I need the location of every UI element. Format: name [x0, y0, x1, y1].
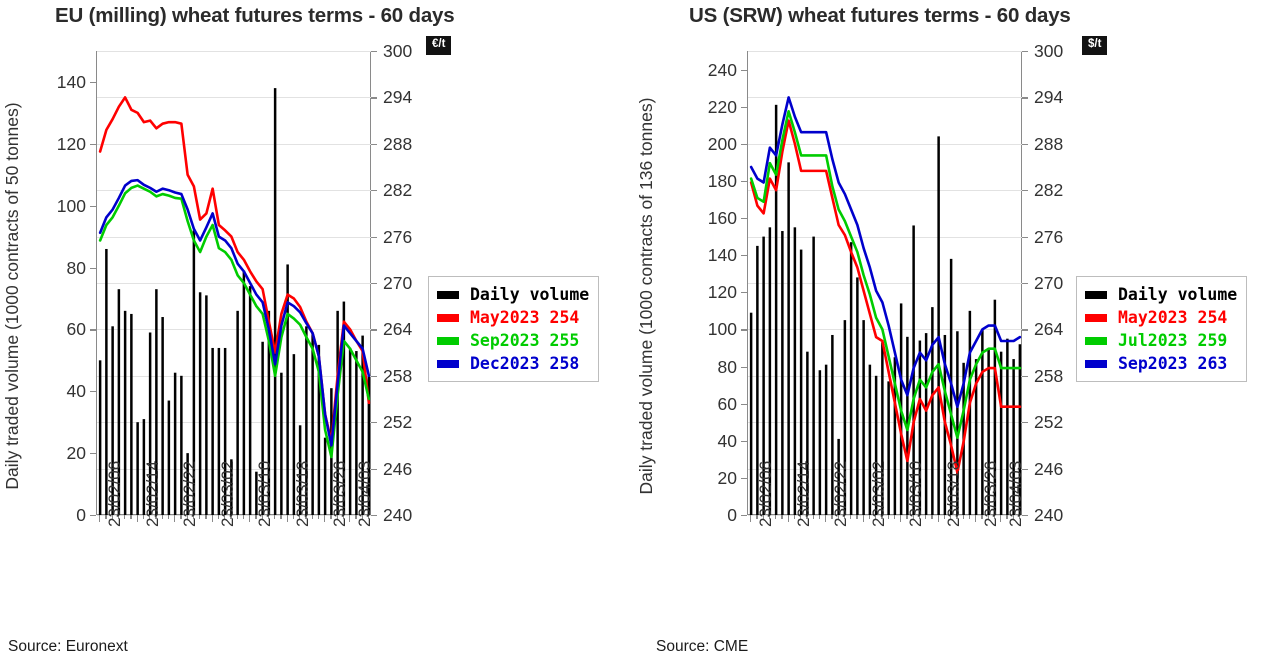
y-tick-label-right: 264: [1034, 321, 1063, 339]
y-tick-mark-right: [1022, 376, 1028, 377]
y-tick-mark-right: [371, 51, 377, 52]
legend-swatch-icon: [437, 360, 459, 368]
y-tick-label-left: 100: [28, 198, 86, 216]
x-tick-mark-minor: [894, 515, 895, 519]
legend-swatch-icon: [1085, 291, 1107, 299]
x-tick-mark-minor: [205, 515, 206, 519]
legend-swatch-icon: [437, 337, 459, 345]
x-tick-mark-minor: [274, 515, 275, 519]
source-eu: Source: Euronext: [8, 638, 128, 656]
y-tick-label-left: 100: [679, 321, 737, 339]
legend-swatch-icon: [1085, 360, 1107, 368]
x-tick-label: 23/03/10: [907, 461, 924, 527]
volume-bar: [136, 422, 139, 515]
x-tick-mark-minor: [280, 515, 281, 519]
y-tick-label-right: 252: [383, 414, 412, 432]
y-tick-mark-right: [371, 376, 377, 377]
volume-bar: [850, 242, 853, 515]
volume-bar: [781, 231, 784, 515]
y-tick-mark-left: [741, 218, 747, 219]
volume-bar: [819, 370, 822, 515]
x-tick-mark: [825, 515, 826, 522]
y-tick-label-right: 240: [1034, 507, 1063, 525]
x-tick-mark-minor: [925, 515, 926, 519]
panel-us: US (SRW) wheat futures terms - 60 days D…: [634, 0, 1267, 670]
y-tick-mark-left: [741, 404, 747, 405]
y-axis-label-eu: Daily traded volume (1000 contracts of 5…: [2, 36, 28, 556]
legend-value: 254: [1198, 308, 1228, 327]
legend-label: Dec2023: [470, 354, 540, 373]
y-tick-mark-left: [741, 367, 747, 368]
volume-bar: [249, 286, 252, 515]
y-tick-label-right: 246: [1034, 461, 1063, 479]
x-tick-mark: [349, 515, 350, 522]
legend-value: 255: [550, 331, 580, 350]
x-tick-label: 23/02/22: [181, 461, 198, 527]
legend-item[interactable]: May2023254: [1085, 306, 1237, 329]
legend-label: May2023: [470, 308, 540, 327]
y-tick-label-right: 294: [383, 89, 412, 107]
y-tick-mark-left: [741, 107, 747, 108]
y-tick-label-right: 294: [1034, 89, 1063, 107]
y-tick-mark-left: [90, 206, 96, 207]
legend-item[interactable]: Sep2023255: [437, 329, 589, 352]
price-line-may2023: [751, 121, 1020, 473]
x-tick-label: 23/03/18: [294, 461, 311, 527]
y-tick-mark-right: [371, 283, 377, 284]
y-tick-label-right: 282: [383, 182, 412, 200]
y-tick-mark-right: [1022, 190, 1028, 191]
x-tick-mark: [975, 515, 976, 522]
y-tick-mark-left: [90, 329, 96, 330]
chart-canvas: [748, 51, 1023, 515]
legend-item[interactable]: Daily volume: [437, 283, 589, 306]
y-tick-label-left: 60: [679, 396, 737, 414]
chart-title-us: US (SRW) wheat futures terms - 60 days: [689, 4, 1071, 28]
x-tick-mark-minor: [781, 515, 782, 519]
x-tick-label: 23/02/22: [832, 461, 849, 527]
y-tick-mark-right: [1022, 283, 1028, 284]
legend-item[interactable]: Daily volume: [1085, 283, 1237, 306]
y-tick-label-left: 140: [28, 74, 86, 92]
y-tick-label-left: 180: [679, 173, 737, 191]
y-tick-label-right: 300: [383, 43, 412, 61]
y-tick-label-right: 288: [383, 136, 412, 154]
legend-item[interactable]: May2023254: [437, 306, 589, 329]
y-tick-label-right: 270: [383, 275, 412, 293]
volume-bar: [274, 88, 277, 515]
y-tick-mark-right: [1022, 329, 1028, 330]
volume-bar: [168, 401, 171, 515]
y-tick-mark-right: [1022, 237, 1028, 238]
x-tick-mark: [212, 515, 213, 522]
x-tick-mark-minor: [318, 515, 319, 519]
legend-value: 254: [550, 308, 580, 327]
y-tick-label-left: 200: [679, 136, 737, 154]
x-tick-mark: [137, 515, 138, 522]
price-line-jul2023: [751, 111, 1020, 437]
x-tick-label: 23/03/02: [219, 461, 236, 527]
y-tick-mark-right: [1022, 422, 1028, 423]
volume-bar: [130, 314, 133, 515]
legend-swatch-icon: [1085, 314, 1107, 322]
volume-bar: [205, 295, 208, 515]
y-tick-label-left: 0: [679, 507, 737, 525]
x-tick-mark: [788, 515, 789, 522]
x-tick-label: 23/02/06: [106, 461, 123, 527]
x-tick-label: 23/02/14: [795, 461, 812, 527]
volume-bar: [856, 277, 859, 515]
y-tick-mark-right: [371, 237, 377, 238]
unit-badge-us: $/t: [1082, 36, 1107, 55]
x-tick-mark: [287, 515, 288, 522]
y-tick-label-right: 276: [383, 229, 412, 247]
legend-us: Daily volumeMay2023254Jul2023259Sep20232…: [1076, 276, 1247, 382]
legend-eu: Daily volumeMay2023254Sep2023255Dec20232…: [428, 276, 599, 382]
dual-chart-page: EU (milling) wheat futures terms - 60 da…: [0, 0, 1267, 670]
y-tick-label-right: 270: [1034, 275, 1063, 293]
volume-bar: [862, 320, 865, 515]
volume-bar: [750, 313, 753, 515]
x-tick-mark-minor: [124, 515, 125, 519]
x-tick-label: 23/03/10: [256, 461, 273, 527]
x-tick-mark-minor: [168, 515, 169, 519]
y-tick-label-left: 220: [679, 99, 737, 117]
legend-label: Sep2023: [1118, 354, 1188, 373]
y-tick-mark-left: [741, 181, 747, 182]
x-tick-mark: [863, 515, 864, 522]
y-tick-label-right: 258: [383, 368, 412, 386]
plot-area-us: [747, 51, 1022, 515]
x-tick-mark-minor: [931, 515, 932, 519]
volume-bar: [349, 348, 352, 515]
volume-bar: [243, 271, 246, 515]
y-tick-mark-left: [741, 441, 747, 442]
panel-eu: EU (milling) wheat futures terms - 60 da…: [0, 0, 633, 670]
y-tick-mark-left: [741, 329, 747, 330]
x-tick-mark-minor: [199, 515, 200, 519]
y-tick-label-right: 276: [1034, 229, 1063, 247]
x-tick-mark: [249, 515, 250, 522]
volume-bar: [99, 360, 102, 515]
legend-value: 263: [1198, 354, 1228, 373]
y-tick-mark-left: [741, 144, 747, 145]
volume-bar: [124, 311, 127, 515]
y-tick-mark-right: [371, 329, 377, 330]
y-tick-mark-right: [1022, 51, 1028, 52]
y-axis-label-us: Daily traded volume (1000 contracts of 1…: [636, 36, 662, 556]
x-tick-mark-minor: [243, 515, 244, 519]
x-tick-mark-minor: [819, 515, 820, 519]
legend-label: Daily volume: [470, 285, 589, 304]
x-tick-label: 23/03/26: [331, 461, 348, 527]
y-tick-label-right: 252: [1034, 414, 1063, 432]
legend-label: May2023: [1118, 308, 1188, 327]
y-tick-label-left: 60: [28, 321, 86, 339]
volume-bar: [324, 438, 327, 515]
x-tick-mark: [900, 515, 901, 522]
y-tick-label-left: 80: [679, 359, 737, 377]
x-tick-label: 23/04/03: [1007, 461, 1024, 527]
x-tick-mark-minor: [130, 515, 131, 519]
volume-bar: [174, 373, 177, 515]
y-tick-mark-right: [371, 97, 377, 98]
volume-bar: [199, 292, 202, 515]
y-tick-label-left: 80: [28, 260, 86, 278]
legend-swatch-icon: [437, 291, 459, 299]
y-tick-mark-left: [90, 82, 96, 83]
legend-value: 258: [550, 354, 580, 373]
legend-item[interactable]: Jul2023259: [1085, 329, 1237, 352]
x-tick-label: 23/02/14: [144, 461, 161, 527]
volume-bar: [1000, 352, 1003, 515]
legend-swatch-icon: [437, 314, 459, 322]
legend-label: Daily volume: [1118, 285, 1237, 304]
source-us: Source: CME: [656, 638, 748, 656]
y-tick-mark-left: [90, 144, 96, 145]
x-tick-mark: [324, 515, 325, 522]
x-tick-label: 23/03/26: [982, 461, 999, 527]
legend-item[interactable]: Dec2023258: [437, 352, 589, 375]
y-tick-label-right: 246: [383, 461, 412, 479]
plot-area-eu: [96, 51, 371, 515]
x-tick-mark: [938, 515, 939, 522]
y-tick-label-left: 0: [28, 507, 86, 525]
y-tick-label-left: 120: [679, 284, 737, 302]
legend-label: Jul2023: [1118, 331, 1188, 350]
y-tick-mark-left: [90, 453, 96, 454]
y-tick-label-right: 300: [1034, 43, 1063, 61]
x-tick-label: 23/03/02: [870, 461, 887, 527]
y-tick-mark-right: [371, 144, 377, 145]
y-tick-mark-left: [741, 515, 747, 516]
y-tick-label-left: 160: [679, 210, 737, 228]
y-tick-label-right: 288: [1034, 136, 1063, 154]
price-line-dec2023: [100, 180, 369, 445]
unit-badge-eu: €/t: [426, 36, 451, 55]
y-tick-label-right: 240: [383, 507, 412, 525]
price-line-sep2023: [100, 186, 369, 457]
y-tick-label-left: 240: [679, 62, 737, 80]
legend-value: 259: [1198, 331, 1228, 350]
y-tick-mark-left: [741, 292, 747, 293]
legend-swatch-icon: [1085, 337, 1107, 345]
x-tick-label: 23/03/18: [945, 461, 962, 527]
y-tick-mark-left: [90, 515, 96, 516]
y-tick-label-left: 20: [28, 445, 86, 463]
volume-bar: [937, 136, 940, 515]
volume-bar: [825, 365, 828, 515]
volume-bar: [931, 307, 934, 515]
y-tick-label-left: 40: [679, 433, 737, 451]
volume-bar: [787, 162, 790, 515]
y-tick-label-left: 120: [28, 136, 86, 154]
y-tick-mark-left: [90, 391, 96, 392]
x-tick-mark: [99, 515, 100, 522]
volume-bar: [280, 373, 283, 515]
legend-item[interactable]: Sep2023263: [1085, 352, 1237, 375]
x-tick-mark-minor: [969, 515, 970, 519]
chart-canvas: [97, 51, 372, 515]
y-tick-mark-right: [1022, 97, 1028, 98]
x-tick-mark: [1000, 515, 1001, 522]
x-tick-mark: [750, 515, 751, 522]
y-tick-label-left: 40: [28, 383, 86, 401]
y-tick-mark-left: [741, 255, 747, 256]
y-tick-label-right: 258: [1034, 368, 1063, 386]
legend-label: Sep2023: [470, 331, 540, 350]
y-tick-mark-left: [90, 268, 96, 269]
x-tick-mark-minor: [775, 515, 776, 519]
y-tick-mark-right: [371, 190, 377, 191]
chart-title-eu: EU (milling) wheat futures terms - 60 da…: [55, 4, 454, 28]
y-tick-label-right: 264: [383, 321, 412, 339]
y-tick-mark-left: [741, 70, 747, 71]
y-tick-label-right: 282: [1034, 182, 1063, 200]
x-tick-label: 23/02/06: [757, 461, 774, 527]
x-tick-label: 23/04/03: [356, 461, 373, 527]
y-tick-label-left: 140: [679, 247, 737, 265]
y-tick-label-left: 20: [679, 470, 737, 488]
x-tick-mark: [174, 515, 175, 522]
x-tick-mark-minor: [850, 515, 851, 519]
y-tick-mark-right: [1022, 144, 1028, 145]
volume-bar: [211, 348, 214, 515]
y-tick-mark-left: [741, 478, 747, 479]
y-tick-mark-right: [371, 422, 377, 423]
x-tick-mark-minor: [856, 515, 857, 519]
